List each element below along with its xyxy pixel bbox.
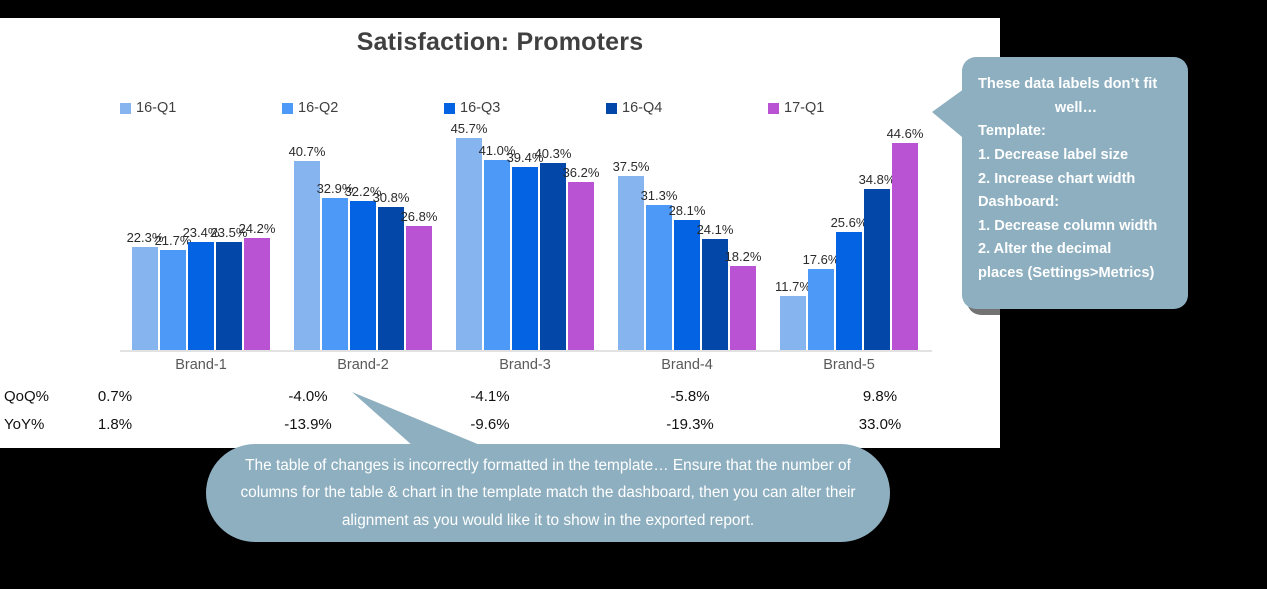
bar-rect (216, 242, 242, 352)
legend-item-label: 16-Q1 (136, 100, 176, 116)
bar-rect (780, 296, 806, 351)
category-label-Brand-5: Brand-5 (823, 357, 875, 373)
bar-Brand-2-16-Q4[interactable]: 30.8% (378, 118, 404, 351)
callout-bottom: The table of changes is incorrectly form… (206, 444, 890, 542)
callout-right-line: well… (978, 97, 1174, 121)
table-row-label-YoY: YoY% (4, 416, 44, 433)
legend-item-16-Q4[interactable]: 16-Q4 (606, 100, 768, 116)
bar-data-label: 31.3% (641, 188, 678, 203)
bar-Brand-4-17-Q1[interactable]: 18.2% (730, 118, 756, 351)
bar-Brand-4-16-Q1[interactable]: 37.5% (618, 118, 644, 351)
bar-group-Brand-3: 45.7%41.0%39.4%40.3%36.2% (456, 118, 594, 351)
bar-chart-plot-area: 22.3%21.7%23.4%23.5%24.2%40.7%32.9%32.2%… (120, 118, 930, 351)
bar-Brand-5-17-Q1[interactable]: 44.6% (892, 118, 918, 351)
bar-Brand-5-16-Q4[interactable]: 34.8% (864, 118, 890, 351)
category-label-Brand-1: Brand-1 (175, 357, 227, 373)
callout-right-line: 2. Alter the decimal (978, 238, 1174, 262)
legend-swatch-icon (768, 103, 779, 114)
bar-Brand-5-16-Q3[interactable]: 25.6% (836, 118, 862, 351)
bar-rect (730, 266, 756, 351)
category-label-Brand-2: Brand-2 (337, 357, 389, 373)
bar-group-Brand-5: 11.7%17.6%25.6%34.8%44.6% (780, 118, 918, 351)
callout-right: These data labels don’t fitwell…Template… (962, 57, 1188, 309)
bar-rect (808, 269, 834, 351)
category-label-Brand-3: Brand-3 (499, 357, 551, 373)
bar-Brand-1-17-Q1[interactable]: 24.2% (244, 118, 270, 351)
bar-data-label: 25.6% (831, 215, 868, 230)
bar-Brand-3-17-Q1[interactable]: 36.2% (568, 118, 594, 351)
bar-rect (646, 205, 672, 351)
bar-data-label: 17.6% (803, 252, 840, 267)
bar-rect (540, 163, 566, 351)
callout-right-line: 1. Decrease label size (978, 144, 1174, 168)
bar-data-label: 24.1% (697, 222, 734, 237)
bar-Brand-2-16-Q2[interactable]: 32.9% (322, 118, 348, 351)
bar-rect (864, 189, 890, 351)
bar-group-Brand-1: 22.3%21.7%23.4%23.5%24.2% (132, 118, 270, 351)
callout-bottom-text: The table of changes is incorrectly form… (240, 452, 856, 534)
table-cell: 33.0% (859, 416, 902, 433)
legend-swatch-icon (444, 103, 455, 114)
bar-Brand-2-16-Q3[interactable]: 32.2% (350, 118, 376, 351)
bar-rect (378, 207, 404, 351)
bar-data-label: 34.8% (859, 172, 896, 187)
bar-data-label: 11.7% (775, 279, 811, 294)
bar-Brand-2-17-Q1[interactable]: 26.8% (406, 118, 432, 351)
legend-swatch-icon (282, 103, 293, 114)
bar-data-label: 45.7% (451, 121, 488, 136)
legend-item-17-Q1[interactable]: 17-Q1 (768, 100, 930, 116)
table-cell: -19.3% (666, 416, 714, 433)
bar-data-label: 40.3% (535, 146, 572, 161)
bar-data-label: 24.2% (239, 221, 276, 236)
legend-item-label: 16-Q4 (622, 100, 662, 116)
bar-rect (456, 138, 482, 351)
legend-swatch-icon (606, 103, 617, 114)
bar-rect (484, 160, 510, 351)
bar-rect (674, 220, 700, 351)
bar-data-label: 44.6% (887, 126, 924, 141)
callout-right-line: places (Settings>Metrics) (978, 262, 1174, 286)
bar-rect (322, 198, 348, 351)
bar-Brand-3-16-Q4[interactable]: 40.3% (540, 118, 566, 351)
table-cell: 0.7% (98, 388, 132, 405)
bar-Brand-5-16-Q2[interactable]: 17.6% (808, 118, 834, 351)
chart-legend: 16-Q116-Q216-Q316-Q417-Q1 (120, 100, 930, 116)
page-title: Satisfaction: Promoters (0, 28, 1000, 57)
table-row-label-QoQ: QoQ% (4, 388, 49, 405)
category-label-Brand-4: Brand-4 (661, 357, 713, 373)
bar-rect (568, 182, 594, 351)
table-cell: 1.8% (98, 416, 132, 433)
bar-data-label: 26.8% (401, 209, 438, 224)
bar-rect (132, 247, 158, 351)
bar-data-label: 36.2% (563, 165, 600, 180)
legend-item-label: 17-Q1 (784, 100, 824, 116)
legend-item-label: 16-Q3 (460, 100, 500, 116)
callout-right-line: 1. Decrease column width (978, 215, 1174, 239)
bar-Brand-4-16-Q4[interactable]: 24.1% (702, 118, 728, 351)
table-cell: 9.8% (863, 388, 897, 405)
legend-item-16-Q3[interactable]: 16-Q3 (444, 100, 606, 116)
table-cell: -5.8% (670, 388, 709, 405)
callout-right-line: Template: (978, 120, 1174, 144)
bar-data-label: 18.2% (725, 249, 762, 264)
callout-right-line: 2. Increase chart width (978, 168, 1174, 192)
bar-Brand-4-16-Q2[interactable]: 31.3% (646, 118, 672, 351)
bar-group-Brand-4: 37.5%31.3%28.1%24.1%18.2% (618, 118, 756, 351)
bar-rect (244, 238, 270, 351)
bar-data-label: 37.5% (613, 159, 650, 174)
callout-right-line: Dashboard: (978, 191, 1174, 215)
bar-group-Brand-2: 40.7%32.9%32.2%30.8%26.8% (294, 118, 432, 351)
bar-rect (892, 143, 918, 351)
bar-Brand-5-16-Q1[interactable]: 11.7% (780, 118, 806, 351)
table-cell: -13.9% (284, 416, 332, 433)
callout-right-line: These data labels don’t fit (978, 73, 1174, 97)
chart-baseline (120, 350, 932, 352)
legend-item-16-Q1[interactable]: 16-Q1 (120, 100, 282, 116)
bar-rect (160, 250, 186, 351)
bar-rect (188, 242, 214, 351)
bar-data-label: 40.7% (289, 144, 326, 159)
bar-rect (512, 167, 538, 351)
bar-rect (350, 201, 376, 351)
legend-swatch-icon (120, 103, 131, 114)
slide-card: Satisfaction: Promoters 16-Q116-Q216-Q31… (0, 18, 1000, 448)
legend-item-label: 16-Q2 (298, 100, 338, 116)
bar-Brand-2-16-Q1[interactable]: 40.7% (294, 118, 320, 351)
bar-rect (836, 232, 862, 351)
legend-item-16-Q2[interactable]: 16-Q2 (282, 100, 444, 116)
table-cell: -4.0% (288, 388, 327, 405)
bar-data-label: 28.1% (669, 203, 706, 218)
bar-rect (406, 226, 432, 351)
bar-data-label: 30.8% (373, 190, 410, 205)
